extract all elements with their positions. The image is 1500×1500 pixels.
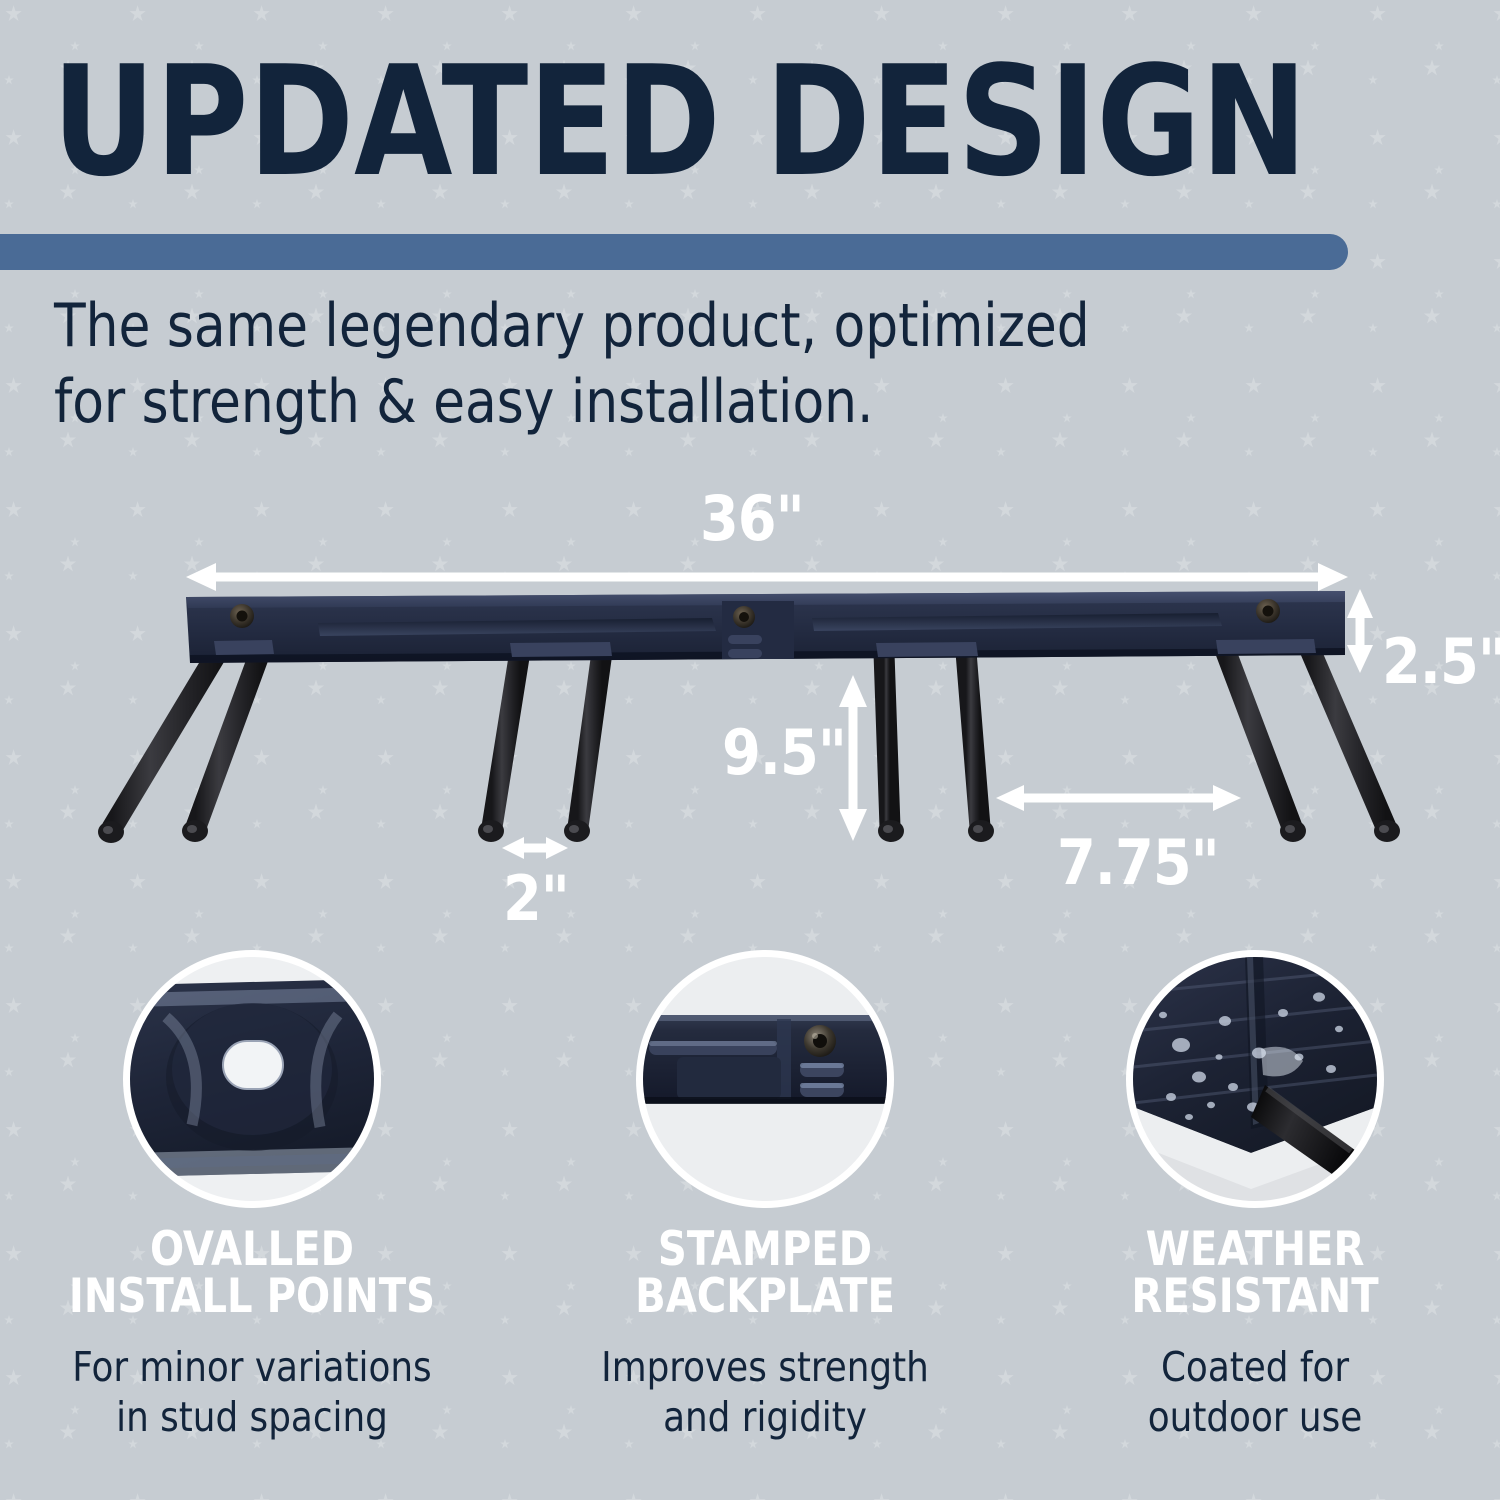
- feature-weather-resistant: WEATHER RESISTANT Coated for outdoor use: [1045, 950, 1465, 1442]
- arrow-36: [186, 563, 1348, 591]
- arm-mid-right-front: [966, 652, 994, 842]
- feature-3-title-line-1: WEATHER: [1056, 1226, 1455, 1273]
- feature-2-desc-line-2: and rigidity: [561, 1392, 968, 1442]
- feature-2-title-line-1: STAMPED: [566, 1226, 965, 1273]
- ovalled-mounting-hole-photo: [130, 957, 374, 1201]
- feature-3-desc-line-2: outdoor use: [1051, 1392, 1458, 1442]
- stamped-backplate-photo: [643, 957, 887, 1201]
- arm-mid-right-back: [878, 653, 904, 842]
- arrow-25: [1347, 589, 1373, 673]
- dimension-label-arm-spacing: 7.75": [1057, 826, 1219, 899]
- arrow-2: [502, 837, 568, 859]
- dimension-label-arm-gap: 2": [503, 862, 569, 935]
- feature-2-description: Improves strength and rigidity: [561, 1342, 968, 1442]
- feature-1-title: OVALLED INSTALL POINTS: [53, 1226, 452, 1320]
- feature-3-title-line-2: RESISTANT: [1056, 1273, 1455, 1320]
- page-subtitle: The same legendary product, optimized fo…: [54, 288, 1360, 440]
- infographic-page: UPDATED DESIGN The same legendary produc…: [0, 0, 1500, 1500]
- feature-1-title-line-1: OVALLED: [53, 1226, 452, 1273]
- arm-right-back: [1224, 647, 1306, 842]
- arm-mid-left-back: [478, 651, 520, 842]
- dimension-label-arm-drop: 9.5": [722, 716, 846, 789]
- feature-stamped-backplate: STAMPED BACKPLATE Improves strength and …: [555, 950, 975, 1442]
- feature-2-title: STAMPED BACKPLATE: [566, 1226, 965, 1320]
- center-stamp-section: [722, 601, 794, 659]
- accent-divider-bar: [0, 234, 1348, 270]
- water-beading-coating-photo: [1133, 957, 1377, 1201]
- arrow-775: [996, 785, 1241, 811]
- mount-screw-left: [230, 604, 254, 628]
- feature-ovalled-install-points: OVALLED INSTALL POINTS For minor variati…: [42, 950, 462, 1442]
- page-title: UPDATED DESIGN: [52, 46, 1280, 198]
- feature-1-title-line-2: INSTALL POINTS: [53, 1273, 452, 1320]
- mount-screw-right: [1256, 599, 1280, 623]
- feature-2-desc-line-1: Improves strength: [561, 1342, 968, 1392]
- subtitle-line-2: for strength & easy installation.: [54, 364, 1360, 440]
- feature-1-description: For minor variations in stud spacing: [48, 1342, 455, 1442]
- feature-3-title: WEATHER RESISTANT: [1056, 1226, 1455, 1320]
- feature-1-desc-line-2: in stud spacing: [48, 1392, 455, 1442]
- feature-1-desc-line-1: For minor variations: [48, 1342, 455, 1392]
- feature-3-circle-frame: [1126, 950, 1384, 1208]
- feature-3-desc-line-1: Coated for: [1051, 1342, 1458, 1392]
- feature-1-circle-frame: [123, 950, 381, 1208]
- feature-2-circle-frame: [636, 950, 894, 1208]
- feature-3-description: Coated for outdoor use: [1051, 1342, 1458, 1442]
- feature-2-title-line-2: BACKPLATE: [566, 1273, 965, 1320]
- rack-backplate: [186, 591, 1345, 663]
- subtitle-line-1: The same legendary product, optimized: [54, 288, 1360, 364]
- dimension-label-length: 36": [700, 482, 804, 555]
- arm-mid-left-front: [564, 652, 602, 842]
- dimension-label-height: 2.5": [1382, 625, 1500, 698]
